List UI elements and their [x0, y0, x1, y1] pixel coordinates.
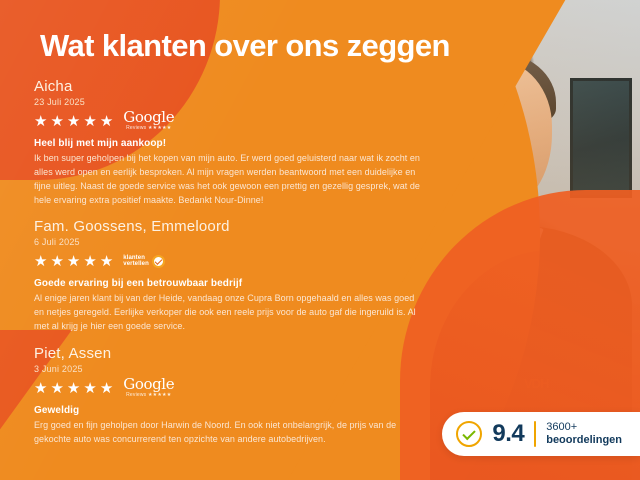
star-icon: ★ [67, 254, 80, 269]
review-date: 3 Juni 2025 [34, 364, 426, 374]
review-meta: ★ ★ ★ ★ ★ Google Reviews ★★★★★ [34, 111, 426, 131]
review-meta: ★ ★ ★ ★ ★ klanten vertellen [34, 251, 426, 271]
star-icon: ★ [50, 254, 63, 269]
review-count-label: beoordelingen [546, 434, 622, 447]
klantenvertellen-logo: klanten vertellen [123, 255, 165, 268]
review-body: Erg goed en fijn geholpen door Harwin de… [34, 419, 426, 447]
review-meta: ★ ★ ★ ★ ★ Google Reviews ★★★★★ [34, 378, 426, 398]
star-icon: ★ [100, 381, 113, 396]
review-headline: Heel blij met mijn aankoop! [34, 138, 426, 149]
verified-checkmark-icon [456, 421, 482, 447]
star-icon: ★ [67, 381, 80, 396]
review-count: 3600+ [546, 421, 622, 434]
star-icon: ★ [67, 114, 80, 129]
star-icon: ★ [50, 114, 63, 129]
google-reviews-logo: Google Reviews ★★★★★ [123, 110, 174, 131]
google-reviews-logo: Google Reviews ★★★★★ [123, 377, 174, 398]
reviewer-name: Piet, Assen [34, 345, 426, 362]
review-body: Ik ben super geholpen bij het kopen van … [34, 152, 426, 208]
score-value: 9.4 [492, 422, 524, 446]
review-date: 6 Juli 2025 [34, 237, 426, 247]
review-headline: Geweldig [34, 405, 426, 416]
klantenvertellen-wordmark: klanten vertellen [123, 255, 149, 268]
star-icon: ★ [34, 254, 47, 269]
google-wordmark: Google [123, 377, 174, 392]
review-body: Al enige jaren klant bij van der Heide, … [34, 292, 426, 334]
star-icon: ★ [83, 254, 96, 269]
review-date: 23 Juli 2025 [34, 97, 426, 107]
score-divider [534, 421, 536, 447]
star-rating: ★ ★ ★ ★ ★ [34, 254, 113, 269]
star-icon: ★ [34, 114, 47, 129]
poster-canvas: VDH Wat klanten over ons zeggen Aicha 23… [0, 0, 640, 480]
google-reviews-sublabel: Reviews ★★★★★ [126, 126, 171, 131]
page-title: Wat klanten over ons zeggen [40, 30, 450, 61]
google-wordmark: Google [123, 110, 174, 125]
star-rating: ★ ★ ★ ★ ★ [34, 381, 113, 396]
google-reviews-sublabel: Reviews ★★★★★ [126, 393, 171, 398]
star-icon: ★ [100, 114, 113, 129]
star-icon: ★ [83, 114, 96, 129]
reviewer-name: Aicha [34, 78, 426, 95]
star-icon: ★ [50, 381, 63, 396]
review-card: Piet, Assen 3 Juni 2025 ★ ★ ★ ★ ★ Google… [34, 345, 426, 447]
review-card: Aicha 23 Juli 2025 ★ ★ ★ ★ ★ Google Revi… [34, 78, 426, 208]
star-icon: ★ [100, 254, 113, 269]
reviewer-name: Fam. Goossens, Emmeloord [34, 218, 426, 235]
checkmark-badge-icon [152, 255, 165, 268]
star-icon: ★ [83, 381, 96, 396]
review-headline: Goede ervaring bij een betrouwbaar bedri… [34, 278, 426, 289]
overall-score-badge: 9.4 3600+ beoordelingen [442, 412, 640, 456]
content-layer: Wat klanten over ons zeggen Aicha 23 Jul… [0, 0, 640, 480]
star-rating: ★ ★ ★ ★ ★ [34, 114, 113, 129]
klantenvertellen-line2: vertellen [123, 261, 149, 267]
score-description: 3600+ beoordelingen [546, 421, 622, 447]
review-card: Fam. Goossens, Emmeloord 6 Juli 2025 ★ ★… [34, 218, 426, 334]
star-icon: ★ [34, 381, 47, 396]
